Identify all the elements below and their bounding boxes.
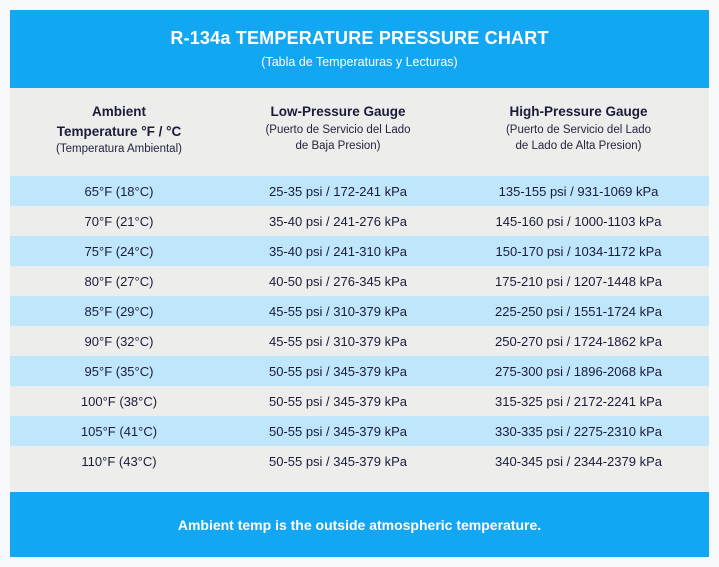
cell-ambient-temperature: 70°F (21°C) [10, 214, 228, 229]
cell-high-pressure: 135-155 psi / 931-1069 kPa [448, 184, 709, 199]
cell-low-pressure: 50-55 psi / 345-379 kPa [228, 394, 448, 409]
cell-ambient-temperature: 75°F (24°C) [10, 244, 228, 259]
cell-low-pressure: 35-40 psi / 241-310 kPa [228, 244, 448, 259]
cell-high-pressure: 145-160 psi / 1000-1103 kPa [448, 214, 709, 229]
cell-ambient-temperature: 65°F (18°C) [10, 184, 228, 199]
cell-low-pressure: 50-55 psi / 345-379 kPa [228, 454, 448, 469]
column-header-title-line1: High-Pressure Gauge [454, 102, 703, 122]
cell-ambient-temperature: 95°F (35°C) [10, 364, 228, 379]
cell-high-pressure: 225-250 psi / 1551-1724 kPa [448, 304, 709, 319]
cell-ambient-temperature: 110°F (43°C) [10, 454, 228, 469]
pressure-table: Ambient Temperature °F / °C (Temperatura… [10, 88, 709, 492]
cell-ambient-temperature: 80°F (27°C) [10, 274, 228, 289]
table-row: 75°F (24°C) 35-40 psi / 241-310 kPa 150-… [10, 236, 709, 266]
cell-ambient-temperature: 100°F (38°C) [10, 394, 228, 409]
column-header-note-line1: (Temperatura Ambiental) [16, 141, 222, 158]
column-header-note-line1: (Puerto de Servicio del Lado [454, 122, 703, 139]
column-header-note-line2: de Baja Presion) [234, 138, 442, 155]
table-header-row: Ambient Temperature °F / °C (Temperatura… [10, 90, 709, 176]
chart-footer-banner: Ambient temp is the outside atmospheric … [10, 492, 709, 557]
cell-high-pressure: 340-345 psi / 2344-2379 kPa [448, 454, 709, 469]
cell-ambient-temperature: 85°F (29°C) [10, 304, 228, 319]
cell-high-pressure: 150-170 psi / 1034-1172 kPa [448, 244, 709, 259]
cell-high-pressure: 175-210 psi / 1207-1448 kPa [448, 274, 709, 289]
cell-ambient-temperature: 90°F (32°C) [10, 334, 228, 349]
page-title: R-134a TEMPERATURE PRESSURE CHART [170, 28, 548, 50]
table-row: 90°F (32°C) 45-55 psi / 310-379 kPa 250-… [10, 326, 709, 356]
table-row: 65°F (18°C) 25-35 psi / 172-241 kPa 135-… [10, 176, 709, 206]
cell-low-pressure: 45-55 psi / 310-379 kPa [228, 334, 448, 349]
column-header-high-pressure-gauge: High-Pressure Gauge (Puerto de Servicio … [448, 102, 709, 155]
table-row: 85°F (29°C) 45-55 psi / 310-379 kPa 225-… [10, 296, 709, 326]
cell-ambient-temperature: 105°F (41°C) [10, 424, 228, 439]
cell-low-pressure: 45-55 psi / 310-379 kPa [228, 304, 448, 319]
cell-low-pressure: 35-40 psi / 241-276 kPa [228, 214, 448, 229]
column-header-ambient-temperature: Ambient Temperature °F / °C (Temperatura… [10, 102, 228, 158]
cell-high-pressure: 275-300 psi / 1896-2068 kPa [448, 364, 709, 379]
cell-low-pressure: 25-35 psi / 172-241 kPa [228, 184, 448, 199]
pressure-chart-card: R-134a TEMPERATURE PRESSURE CHART (Tabla… [10, 10, 709, 557]
cell-low-pressure: 50-55 psi / 345-379 kPa [228, 424, 448, 439]
column-header-title-line1: Ambient [16, 102, 222, 122]
table-row: 100°F (38°C) 50-55 psi / 345-379 kPa 315… [10, 386, 709, 416]
cell-high-pressure: 330-335 psi / 2275-2310 kPa [448, 424, 709, 439]
footer-note: Ambient temp is the outside atmospheric … [178, 517, 541, 533]
table-row: 95°F (35°C) 50-55 psi / 345-379 kPa 275-… [10, 356, 709, 386]
cell-low-pressure: 40-50 psi / 276-345 kPa [228, 274, 448, 289]
cell-high-pressure: 250-270 psi / 1724-1862 kPa [448, 334, 709, 349]
table-bottom-spacer [10, 476, 709, 492]
table-row: 110°F (43°C) 50-55 psi / 345-379 kPa 340… [10, 446, 709, 476]
cell-low-pressure: 50-55 psi / 345-379 kPa [228, 364, 448, 379]
table-row: 105°F (41°C) 50-55 psi / 345-379 kPa 330… [10, 416, 709, 446]
table-row: 70°F (21°C) 35-40 psi / 241-276 kPa 145-… [10, 206, 709, 236]
column-header-low-pressure-gauge: Low-Pressure Gauge (Puerto de Servicio d… [228, 102, 448, 155]
chart-title-banner: R-134a TEMPERATURE PRESSURE CHART (Tabla… [10, 10, 709, 88]
cell-high-pressure: 315-325 psi / 2172-2241 kPa [448, 394, 709, 409]
page-subtitle: (Tabla de Temperaturas y Lecturas) [261, 55, 457, 70]
column-header-title-line1: Low-Pressure Gauge [234, 102, 442, 122]
column-header-note-line2: de Lado de Alta Presion) [454, 138, 703, 155]
table-row: 80°F (27°C) 40-50 psi / 276-345 kPa 175-… [10, 266, 709, 296]
column-header-note-line1: (Puerto de Servicio del Lado [234, 122, 442, 139]
column-header-title-line2: Temperature °F / °C [16, 122, 222, 142]
